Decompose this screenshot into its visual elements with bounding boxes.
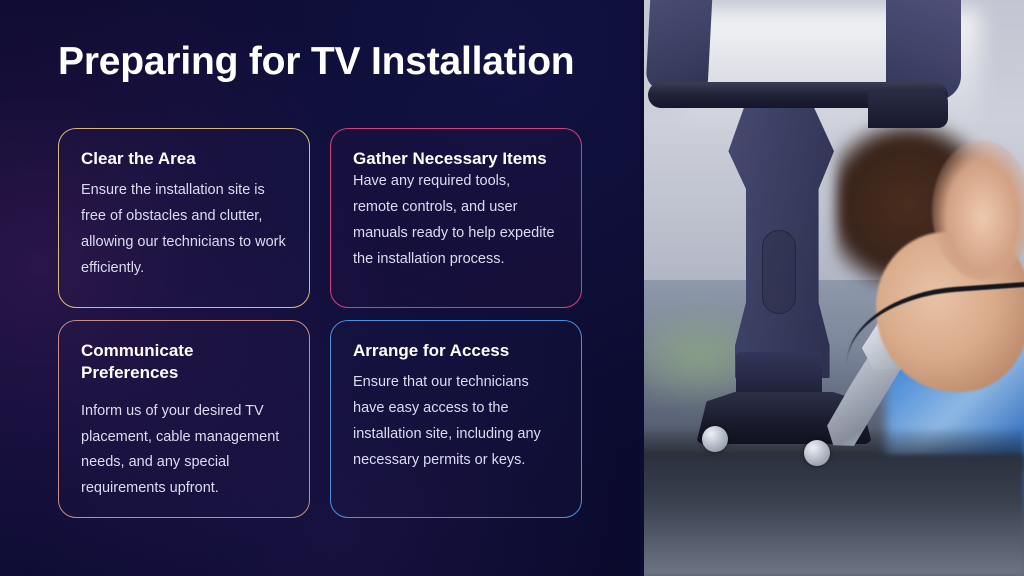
slide: Preparing for TV Installation Clear the … — [0, 0, 1024, 576]
card-body: Have any required tools, remote controls… — [353, 169, 559, 272]
card-grid: Clear the Area Ensure the installation s… — [0, 0, 640, 576]
photo-left-edge — [640, 0, 644, 576]
mount-bolt-right — [804, 440, 830, 466]
card-inner: Clear the Area Ensure the installation s… — [81, 148, 287, 282]
card-gather-necessary-items[interactable]: Gather Necessary Items Have any required… — [330, 128, 582, 308]
card-clear-the-area[interactable]: Clear the Area Ensure the installation s… — [58, 128, 310, 308]
card-inner: Gather Necessary Items Have any required… — [353, 148, 559, 275]
card-body: Inform us of your desired TV placement, … — [81, 399, 287, 502]
mount-crossbar-end — [868, 92, 948, 128]
card-inner: Communicate Preferences Inform us of you… — [81, 340, 287, 502]
mount-bolt-left — [702, 426, 728, 452]
card-title: Arrange for Access — [353, 340, 559, 362]
card-title: Clear the Area — [81, 148, 287, 170]
card-title: Gather Necessary Items — [353, 148, 559, 170]
card-arrange-for-access[interactable]: Arrange for Access Ensure that our techn… — [330, 320, 582, 518]
technician-hand-upper — [932, 140, 1024, 280]
card-body: Ensure that our technicians have easy ac… — [353, 370, 559, 473]
card-communicate-preferences[interactable]: Communicate Preferences Inform us of you… — [58, 320, 310, 518]
mount-arm-left — [645, 0, 712, 90]
installation-photo — [640, 0, 1024, 576]
card-body: Ensure the installation site is free of … — [81, 178, 287, 281]
mount-neck — [736, 352, 822, 398]
photo-tv-panel — [640, 455, 1024, 575]
card-inner: Arrange for Access Ensure that our techn… — [353, 340, 559, 474]
card-title: Communicate Preferences — [81, 340, 287, 385]
mount-slot — [762, 230, 796, 314]
